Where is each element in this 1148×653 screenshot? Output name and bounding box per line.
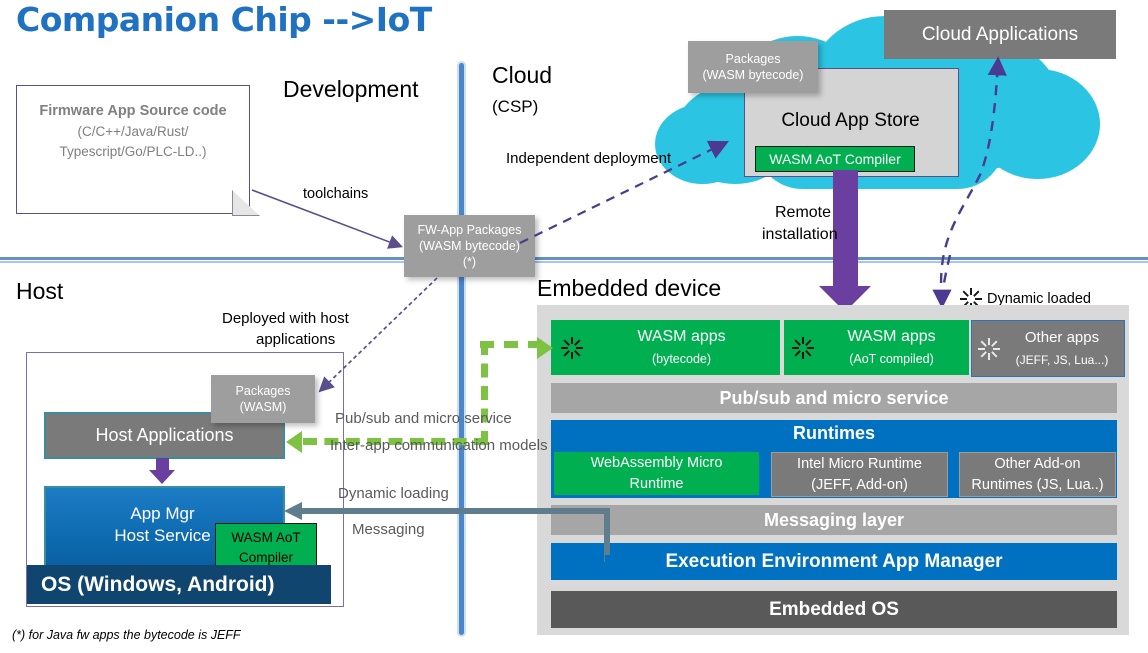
label-inter-app-communication: Inter-app communication models	[330, 437, 548, 454]
app-mgr-label-l1: App Mgr	[44, 504, 281, 524]
firmware-source-line2: Typescript/Go/PLC-LD..)	[17, 142, 249, 162]
label-dynamic-loading: Dynamic loading	[338, 485, 449, 502]
label-pubsub-micro-service: Pub/sub and micro service	[335, 410, 512, 427]
callout-host-line1: Packages	[236, 383, 291, 399]
embedded-runtime-2-l1: Other Add-on	[994, 454, 1080, 474]
section-label-host: Host	[16, 278, 63, 305]
cloud-applications-label: Cloud Applications	[922, 24, 1078, 46]
firmware-source-title: Firmware App Source code	[17, 102, 249, 120]
callout-fw-line2: (WASM bytecode)	[419, 238, 520, 254]
cloud-aot-label: WASM AoT Compiler	[769, 151, 900, 167]
embedded-app-0-name: WASM apps	[637, 328, 725, 345]
embedded-runtime-other: Other Add-on Runtimes (JS, Lua..)	[959, 452, 1116, 497]
embedded-os-label: Embedded OS	[769, 599, 899, 621]
pubsub-dash-vertical	[481, 341, 488, 445]
embedded-app-other: Other apps (JEFF, JS, Lua...)	[971, 320, 1125, 377]
callout-fw-line3: (*)	[463, 254, 476, 270]
host-os-label: OS (Windows, Android)	[41, 573, 275, 597]
embedded-app-manager-label: Execution Environment App Manager	[665, 551, 1002, 573]
host-os-box: OS (Windows, Android)	[27, 565, 331, 604]
embedded-pubsub-bar: Pub/sub and micro service	[551, 383, 1117, 413]
label-toolchains: toolchains	[303, 186, 368, 202]
embedded-app-manager-bar: Execution Environment App Manager	[551, 543, 1117, 580]
embedded-runtime-1-l2: (JEFF, Add-on)	[811, 475, 908, 495]
section-label-cloud: Cloud	[492, 62, 552, 89]
embedded-app-1-sub: (AoT compiled)	[849, 352, 934, 366]
host-applications-label: Host Applications	[95, 425, 233, 446]
firmware-source-box: Firmware App Source code (C/C++/Java/Rus…	[16, 85, 250, 214]
embedded-runtime-0-l2: Runtime	[630, 474, 684, 494]
dynamic-loading-arrow-head	[284, 502, 302, 520]
pubsub-dash-arrow-left	[286, 431, 302, 453]
section-label-development: Development	[283, 76, 419, 103]
embedded-app-wasm-bytecode: WASM apps (bytecode)	[551, 320, 780, 375]
embedded-messaging-bar: Messaging layer	[551, 505, 1117, 535]
messaging-arrow-to-exec	[604, 556, 605, 562]
section-label-cloud-sub: (CSP)	[492, 97, 538, 117]
embedded-app-0-sub: (bytecode)	[652, 352, 711, 366]
label-remote-installation-l2: installation	[762, 226, 838, 244]
callout-cloud-line2: (WASM bytecode)	[703, 67, 804, 83]
independent-deployment-arrow	[520, 115, 735, 245]
spinner-icon	[792, 337, 814, 359]
callout-fw-app-packages: FW-App Packages (WASM bytecode) (*)	[404, 215, 535, 277]
dynamic-loading-arrow-shaft	[300, 508, 610, 514]
embedded-app-2-name: Other apps	[1025, 329, 1099, 346]
embedded-runtimes-title: Runtimes	[551, 423, 1117, 444]
host-aot-line1: WASM AoT	[231, 528, 300, 548]
cloud-applications-box: Cloud Applications	[884, 10, 1116, 59]
label-messaging: Messaging	[352, 521, 425, 538]
embedded-pubsub-label: Pub/sub and micro service	[719, 388, 948, 409]
embedded-runtime-intel: Intel Micro Runtime (JEFF, Add-on)	[771, 452, 948, 497]
section-label-embedded: Embedded device	[537, 275, 721, 302]
label-remote-installation-l1: Remote	[775, 204, 831, 222]
embedded-runtime-1-l1: Intel Micro Runtime	[797, 454, 922, 474]
host-internal-arrow-head	[149, 470, 175, 484]
embedded-runtime-0-l1: WebAssembly Micro	[591, 453, 723, 473]
embedded-runtime-wamr: WebAssembly Micro Runtime	[554, 452, 759, 495]
embedded-app-2-sub: (JEFF, JS, Lua...)	[1016, 353, 1109, 367]
embedded-os-bar: Embedded OS	[551, 591, 1117, 628]
callout-host-packages: Packages (WASM)	[211, 375, 315, 423]
deployed-with-host-arrow	[315, 278, 440, 398]
pubsub-dash-horizontal-top	[480, 341, 542, 348]
callout-cloud-line1: Packages	[726, 51, 781, 67]
page-title: Companion Chip -->IoT	[16, 0, 432, 39]
callout-host-line2: (WASM)	[240, 399, 287, 415]
callout-fw-line1: FW-App Packages	[418, 222, 522, 238]
firmware-source-line1: (C/C++/Java/Rust/	[17, 122, 249, 142]
label-independent-deployment: Independent deployment	[506, 150, 671, 167]
embedded-app-wasm-aot: WASM apps (AoT compiled)	[784, 320, 969, 375]
vertical-divider	[459, 63, 464, 635]
embedded-runtime-2-l2: Runtimes (JS, Lua..)	[971, 475, 1103, 495]
footnote: (*) for Java fw apps the bytecode is JEF…	[12, 628, 241, 642]
spinner-icon	[561, 337, 583, 359]
embedded-messaging-label: Messaging layer	[764, 510, 904, 531]
cloud-to-device-dashed-arrow	[920, 55, 1020, 310]
callout-cloud-packages: Packages (WASM bytecode)	[688, 41, 818, 93]
cloud-wasm-aot-compiler: WASM AoT Compiler	[755, 146, 915, 172]
pubsub-dash-arrow-right	[537, 337, 553, 359]
spinner-icon	[978, 338, 1000, 360]
embedded-app-1-name: WASM apps	[847, 328, 935, 345]
messaging-arrow-shaft-vertical	[604, 508, 610, 555]
